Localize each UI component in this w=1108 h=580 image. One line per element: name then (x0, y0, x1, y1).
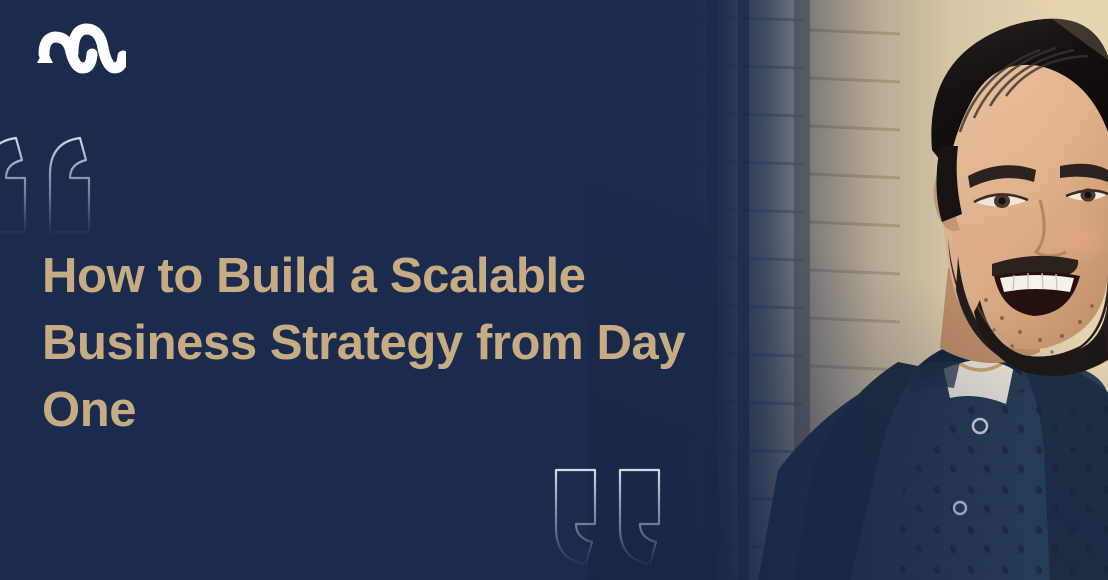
open-quote-glyph (0, 128, 127, 238)
monogram-logo[interactable] (28, 16, 126, 82)
episode-cover-canvas: How to Build a Scalable Business Strateg… (0, 0, 1108, 580)
open-quote-mark (0, 128, 127, 238)
monogram-logo-mark (28, 16, 126, 82)
episode-title: How to Build a Scalable Business Strateg… (42, 243, 732, 444)
